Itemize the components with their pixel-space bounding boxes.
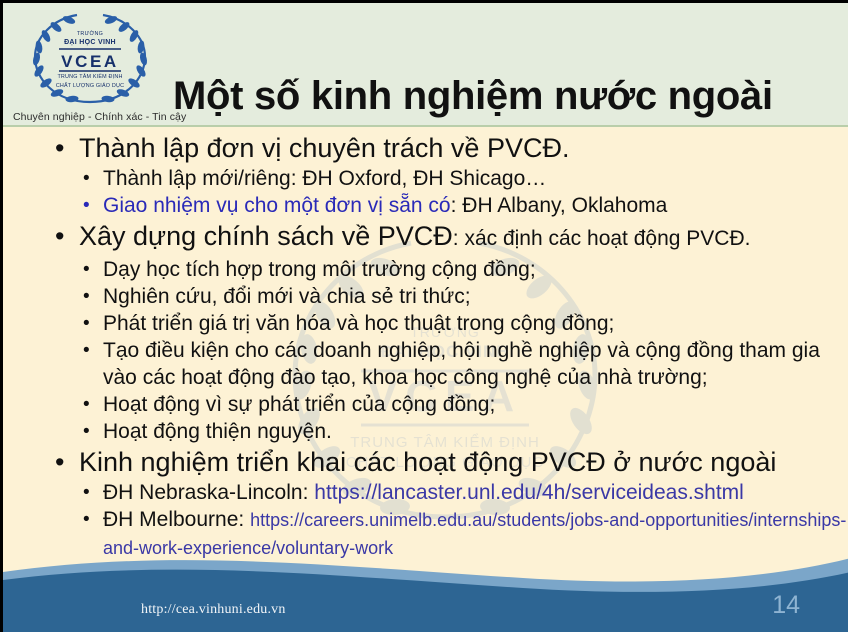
list-item: • ĐH Nebraska-Lincoln: https://lancaster… [75, 479, 848, 506]
bullet-glyph: • [55, 131, 64, 165]
bullet-glyph: • [55, 219, 64, 253]
list-item-text: Thành lập đơn vị chuyên trách về PVCĐ. [79, 133, 569, 163]
vcea-logo: TRƯỜNG ĐẠI HỌC VINH VCEA TRUNG TÂM KIỂM … [25, 9, 155, 109]
slide-canvas: TRƯỜNG ĐẠI HỌC VINH VCEA TRUNG TÂM KIỂM … [0, 0, 848, 632]
list-item-lead: Giao nhiệm vụ cho một đơn vị sẵn có [103, 194, 451, 217]
list-item-text: Nghiên cứu, đổi mới và chia sẻ tri thức; [103, 285, 471, 308]
bullet-glyph: • [83, 310, 90, 337]
list-item-text: Hoạt động thiện nguyện. [103, 420, 332, 443]
slide-header: TRƯỜNG ĐẠI HỌC VINH VCEA TRUNG TÂM KIỂM … [3, 3, 848, 127]
page-number: 14 [772, 591, 800, 620]
bullet-glyph: • [83, 165, 90, 192]
list-item: • Thành lập mới/riêng: ĐH Oxford, ĐH Shi… [75, 165, 848, 192]
svg-text:ĐẠI HỌC VINH: ĐẠI HỌC VINH [64, 39, 116, 46]
list-item-text: Dạy học tích hợp trong môi trường cộng đ… [103, 258, 536, 281]
list-item-lead: ĐH Nebraska-Lincoln: [103, 481, 314, 504]
logo-tagline: Chuyên nghiệp - Chính xác - Tin cậy [13, 111, 186, 123]
bullet-list: • Thành lập đơn vị chuyên trách về PVCĐ.… [3, 131, 848, 562]
bullet-glyph: • [83, 256, 90, 283]
bullet-glyph: • [55, 445, 64, 479]
list-item: • Xây dựng chính sách về PVCĐ: xác định … [43, 219, 848, 256]
list-item: • Hoạt động thiện nguyện. [75, 418, 848, 445]
svg-text:CHẤT LƯỢNG GIÁO DỤC: CHẤT LƯỢNG GIÁO DỤC [56, 82, 124, 89]
svg-text:VCEA: VCEA [61, 52, 119, 71]
list-item-text: Thành lập mới/riêng: ĐH Oxford, ĐH Shica… [103, 167, 546, 190]
list-item: • Phát triển giá trị văn hóa và học thuậ… [75, 310, 848, 337]
list-item-lead: Xây dựng chính sách về PVCĐ [79, 221, 453, 251]
list-item: • Hoạt động vì sự phát triển của cộng đồ… [75, 391, 848, 418]
list-item-tail: : ĐH Albany, Oklahoma [451, 194, 668, 217]
list-item: • Dạy học tích hợp trong môi trường cộng… [75, 256, 848, 283]
list-item: • Giao nhiệm vụ cho một đơn vị sẵn có: Đ… [75, 192, 848, 219]
list-item: • Kinh nghiệm triển khai các hoạt động P… [43, 445, 848, 479]
footer-wave [3, 542, 848, 632]
bullet-glyph: • [83, 391, 90, 418]
list-item-text: Hoạt động vì sự phát triển của cộng đồng… [103, 393, 495, 416]
bullet-glyph: • [83, 283, 90, 310]
svg-text:TRUNG TÂM KIỂM ĐỊNH: TRUNG TÂM KIỂM ĐỊNH [57, 73, 122, 80]
bullet-glyph: • [83, 506, 90, 533]
list-item-lead: ĐH Melbourne: [103, 508, 250, 531]
list-item-text: Tạo điều kiện cho các doanh nghiệp, hội … [103, 339, 820, 389]
list-item: • Thành lập đơn vị chuyên trách về PVCĐ. [43, 131, 848, 165]
list-item: • Tạo điều kiện cho các doanh nghiệp, hộ… [75, 337, 848, 391]
bullet-glyph: • [83, 418, 90, 445]
slide-body: • Thành lập đơn vị chuyên trách về PVCĐ.… [3, 131, 848, 562]
list-item-tail: : xác định các hoạt động PVCĐ. [453, 227, 751, 250]
list-item-text: Kinh nghiệm triển khai các hoạt động PVC… [79, 447, 776, 477]
page-title: Một số kinh nghiệm nước ngoài [173, 72, 843, 120]
list-item-text: Phát triển giá trị văn hóa và học thuật … [103, 312, 614, 335]
svg-text:TRƯỜNG: TRƯỜNG [77, 30, 103, 37]
hyperlink[interactable]: https://lancaster.unl.edu/4h/serviceidea… [314, 481, 744, 504]
footer-url[interactable]: http://cea.vinhuni.edu.vn [141, 602, 286, 618]
list-item: • Nghiên cứu, đổi mới và chia sẻ tri thứ… [75, 283, 848, 310]
bullet-glyph: • [83, 337, 90, 364]
bullet-glyph: • [83, 192, 90, 219]
bullet-glyph: • [83, 479, 90, 506]
